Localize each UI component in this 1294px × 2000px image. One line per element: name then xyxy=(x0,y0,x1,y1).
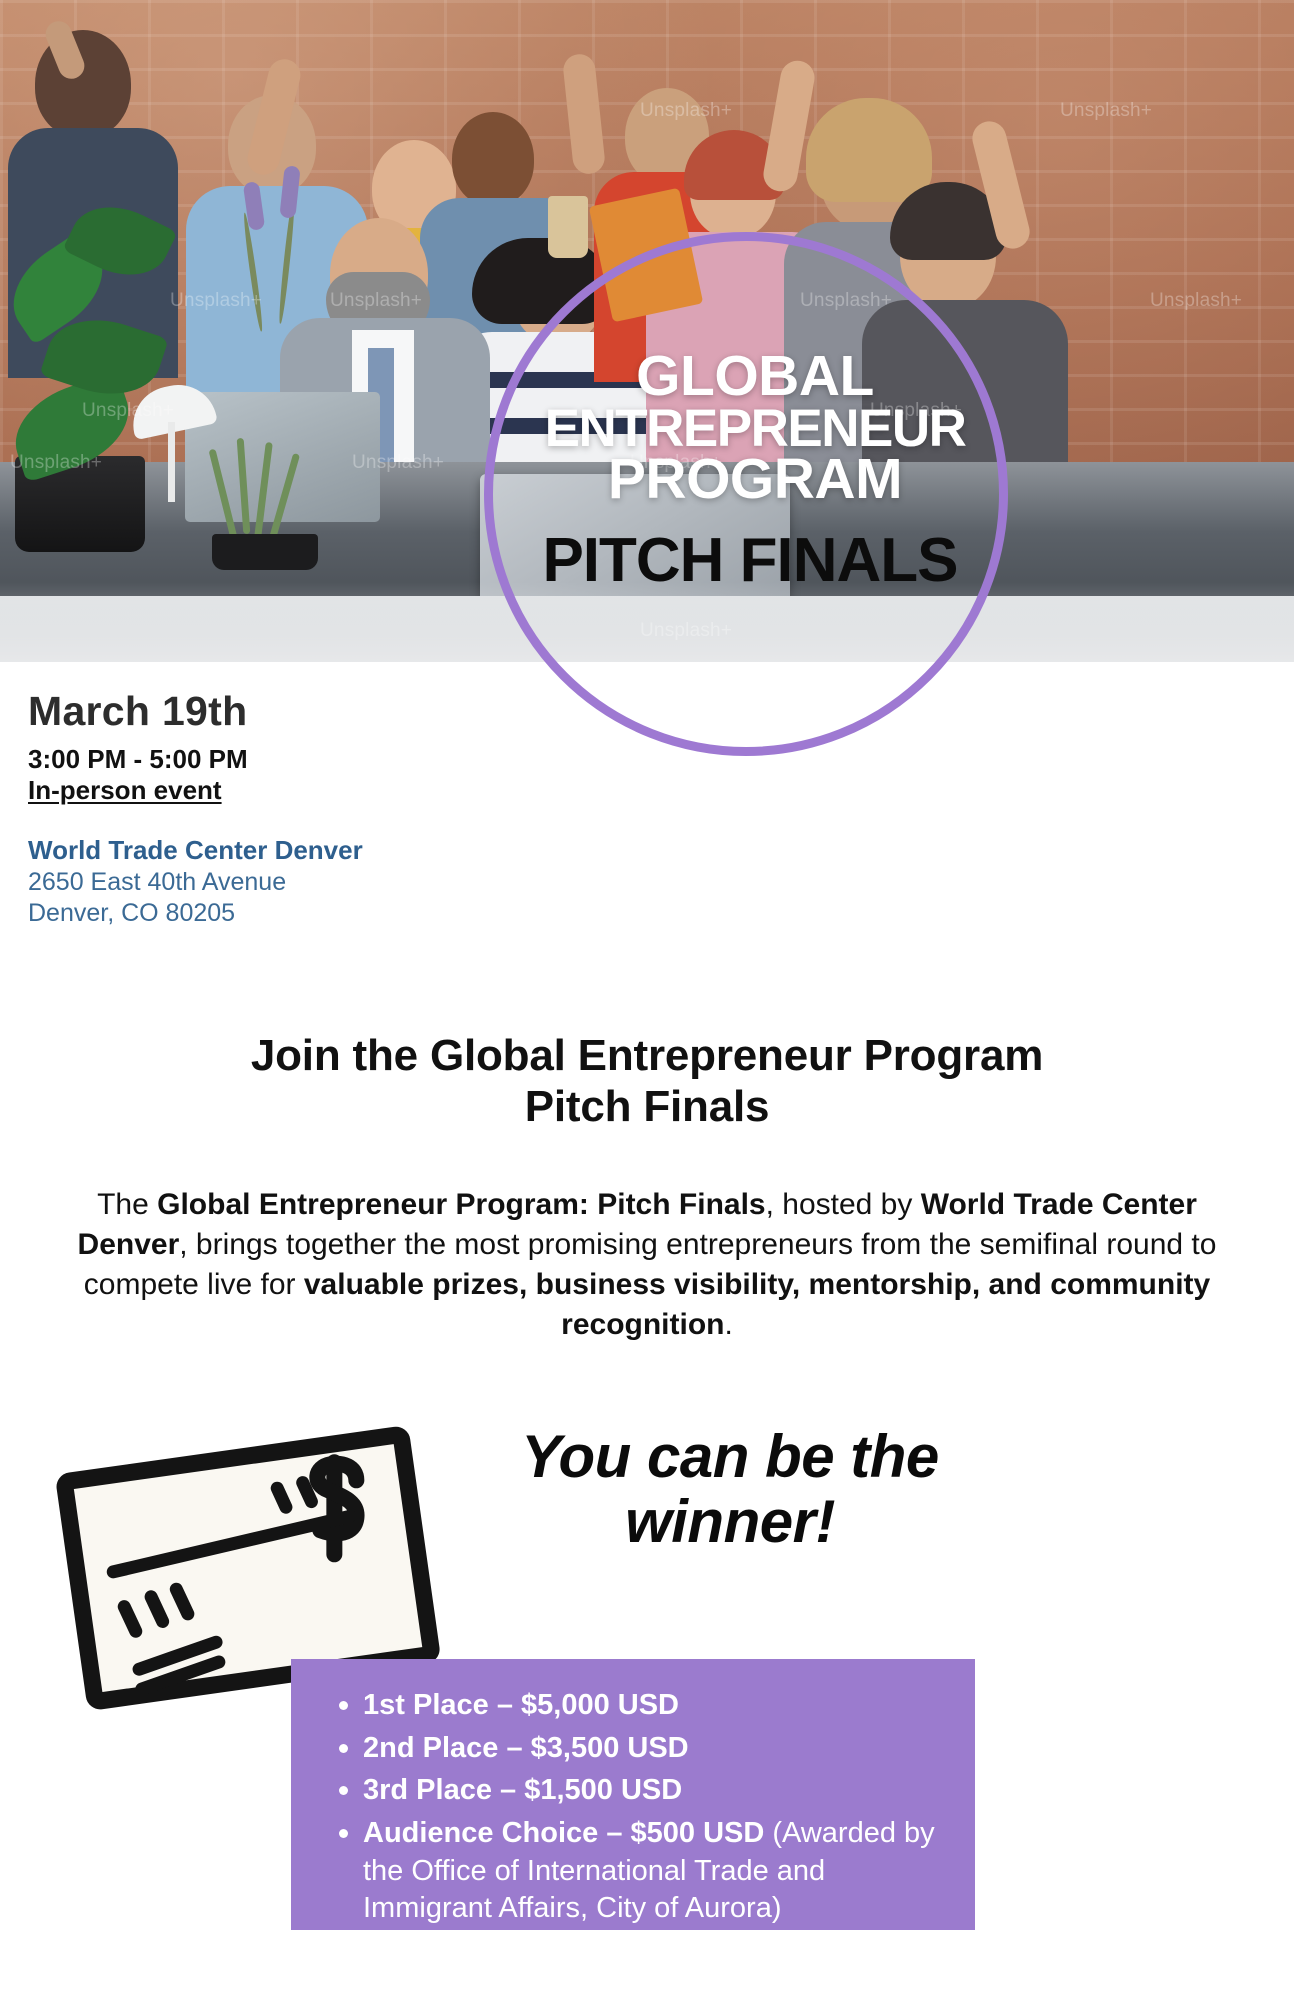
event-address-line2: Denver, CO 80205 xyxy=(28,898,363,929)
winner-callout-line2: winner! xyxy=(450,1490,1010,1555)
program-title: GLOBAL ENTREPRENEUR PROGRAM xyxy=(520,350,990,507)
list-item: Audience Choice – $500 USD (Awarded by t… xyxy=(317,1815,949,1928)
bullet-icon xyxy=(339,1786,348,1795)
prize-label: Audience Choice – $500 USD xyxy=(363,1817,764,1849)
winner-callout: You can be the winner! xyxy=(450,1425,1010,1555)
page-title-line1: Join the Global Entrepreneur Program xyxy=(60,1030,1234,1081)
bullet-icon xyxy=(339,1744,348,1753)
list-item: 3rd Place – $1,500 USD xyxy=(317,1772,949,1810)
program-title-line1: GLOBAL xyxy=(520,350,990,404)
desc-f: valuable prizes, business visibility, me… xyxy=(304,1268,1210,1341)
prize-label: 1st Place – $5,000 USD xyxy=(363,1689,679,1721)
event-details: March 19th 3:00 PM - 5:00 PM In-person e… xyxy=(28,688,363,928)
desc-a: The xyxy=(97,1188,157,1221)
event-flyer: Unsplash+ Unsplash+ Unsplash+ Unsplash+ … xyxy=(0,0,1294,2000)
small-pot xyxy=(212,534,318,570)
list-item: 2nd Place – $3,500 USD xyxy=(317,1730,949,1768)
program-title-line3: PROGRAM xyxy=(520,453,990,507)
page-title: Join the Global Entrepreneur Program Pit… xyxy=(60,1030,1234,1132)
program-title-line2: ENTREPRENEUR xyxy=(520,404,990,454)
event-venue: World Trade Center Denver xyxy=(28,835,363,867)
lamp-stem xyxy=(168,422,175,502)
list-item: 1st Place – $5,000 USD xyxy=(317,1687,949,1725)
page-title-line2: Pitch Finals xyxy=(60,1081,1234,1132)
winner-callout-line1: You can be the xyxy=(450,1425,1010,1490)
desc-g: . xyxy=(725,1308,733,1341)
event-address-line1: 2650 East 40th Avenue xyxy=(28,867,363,898)
description-paragraph: The Global Entrepreneur Program: Pitch F… xyxy=(60,1185,1234,1345)
prize-label: 3rd Place – $1,500 USD xyxy=(363,1774,682,1806)
desc-b: Global Entrepreneur Program: Pitch Final… xyxy=(157,1188,765,1221)
event-date: March 19th xyxy=(28,688,363,735)
prize-label: 2nd Place – $3,500 USD xyxy=(363,1732,689,1764)
pitch-finals-title: PITCH FINALS xyxy=(500,530,1000,592)
event-mode: In-person event xyxy=(28,775,363,806)
prize-list: 1st Place – $5,000 USD 2nd Place – $3,50… xyxy=(317,1687,949,1928)
desc-c: , hosted by xyxy=(766,1188,921,1221)
bullet-icon xyxy=(339,1701,348,1710)
event-time: 3:00 PM - 5:00 PM xyxy=(28,744,363,775)
prize-list-box: 1st Place – $5,000 USD 2nd Place – $3,50… xyxy=(291,1659,975,1930)
bullet-icon xyxy=(339,1829,348,1838)
